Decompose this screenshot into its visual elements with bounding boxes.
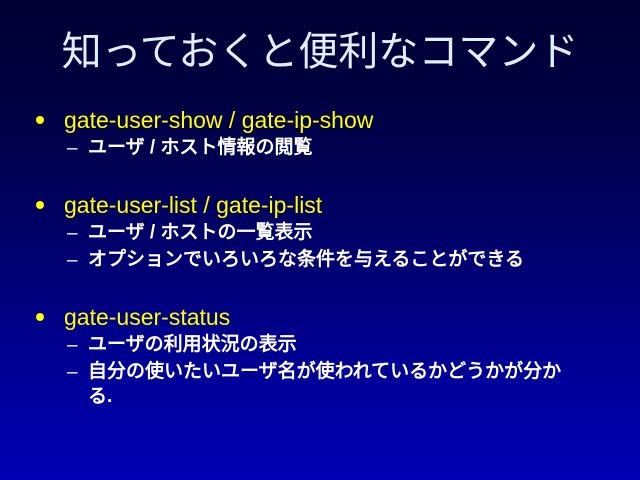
bullet-label: gate-user-list / gate-ip-list [64, 190, 640, 220]
sub-item: – ユーザ / ホスト情報の閲覧 [0, 135, 640, 162]
page-title: 知っておくと便利なコマンド [0, 28, 640, 76]
bullet-dot-icon [36, 201, 44, 209]
dash-icon: – [67, 332, 78, 359]
sub-item: – 自分の使いたいユーザ名が使われているかどうかが分かる. [0, 359, 640, 409]
bullet-group-1: gate-user-show / gate-ip-show – ユーザ / ホス… [0, 105, 640, 162]
dash-icon: – [67, 247, 78, 274]
sub-item-label: 自分の使いたいユーザ名が使われているかどうかが分かる. [88, 359, 562, 409]
sub-item: – ユーザの利用状況の表示 [0, 332, 640, 359]
bullet-group-3: gate-user-status – ユーザの利用状況の表示 – 自分の使いたい… [0, 302, 640, 409]
bullet-label: gate-user-status [64, 302, 640, 332]
sub-item: – ユーザ / ホストの一覧表示 [0, 220, 640, 247]
sub-item-label: ユーザ / ホストの一覧表示 [88, 220, 572, 245]
sub-item-label: オプションでいろいろな条件を与えることができる [88, 247, 572, 272]
bullet-dot-icon [36, 116, 44, 124]
bullet-item-gate-user-list: gate-user-list / gate-ip-list [0, 190, 640, 220]
bullet-dot-icon [36, 313, 44, 321]
bullet-item-gate-user-show: gate-user-show / gate-ip-show [0, 105, 640, 135]
presentation-slide: 知っておくと便利なコマンド gate-user-show / gate-ip-s… [0, 0, 640, 480]
bullet-label: gate-user-show / gate-ip-show [64, 105, 640, 135]
sub-item: – オプションでいろいろな条件を与えることができる [0, 247, 640, 274]
bullet-list: gate-user-show / gate-ip-show – ユーザ / ホス… [0, 105, 640, 409]
dash-icon: – [67, 220, 78, 247]
bullet-item-gate-user-status: gate-user-status [0, 302, 640, 332]
dash-icon: – [67, 135, 78, 162]
sub-item-label: ユーザ / ホスト情報の閲覧 [88, 135, 572, 160]
dash-icon: – [67, 359, 78, 386]
sub-item-label: ユーザの利用状況の表示 [88, 332, 572, 357]
bullet-group-2: gate-user-list / gate-ip-list – ユーザ / ホス… [0, 190, 640, 274]
